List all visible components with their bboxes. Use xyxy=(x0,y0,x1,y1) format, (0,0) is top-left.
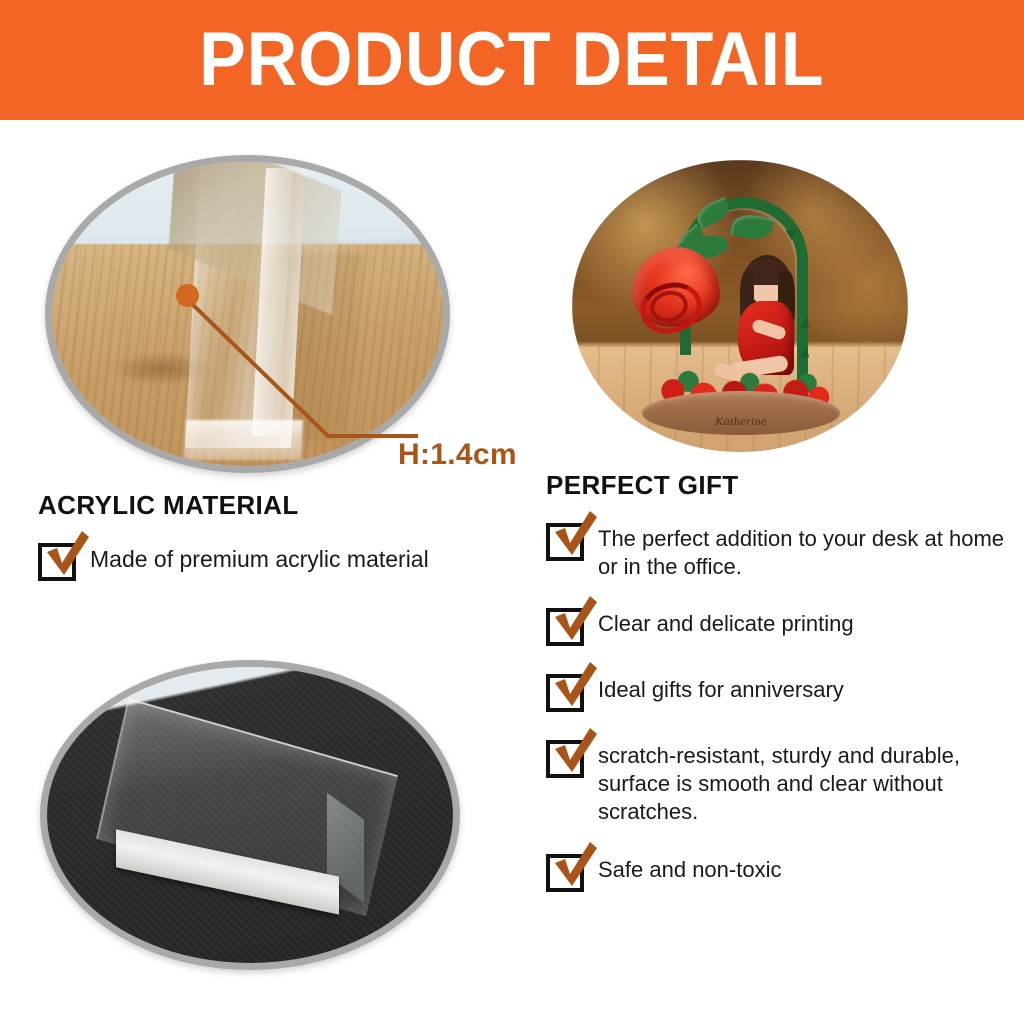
checkmark-icon xyxy=(547,510,599,562)
feature-item: The perfect addition to your desk at hom… xyxy=(546,521,1016,580)
header-banner: PRODUCT DETAIL xyxy=(0,0,1024,120)
page-title: PRODUCT DETAIL xyxy=(199,22,824,98)
feature-text: The perfect addition to your desk at hom… xyxy=(598,521,1016,580)
feature-item: Ideal gifts for anniversary xyxy=(546,672,1016,712)
checkbox-checked[interactable] xyxy=(546,674,584,712)
figurine-photo-inner: Katherine xyxy=(572,160,908,452)
acrylic-edge-photo-inner xyxy=(52,162,443,466)
checkbox-checked[interactable] xyxy=(38,543,76,581)
rose-figurine: Katherine xyxy=(624,185,856,437)
checkmark-icon xyxy=(547,727,599,779)
height-callout-label: H:1.4cm xyxy=(398,438,517,472)
acrylic-base-highlight xyxy=(184,420,303,460)
checkmark-icon xyxy=(547,595,599,647)
acrylic-edge-photo xyxy=(45,155,450,473)
feature-text: Ideal gifts for anniversary xyxy=(598,672,844,704)
checkmark-icon xyxy=(39,530,91,582)
feature-text: Safe and non-toxic xyxy=(598,852,781,884)
feature-item: Safe and non-toxic xyxy=(546,852,1016,892)
checkbox-checked[interactable] xyxy=(546,740,584,778)
callout-dot-icon xyxy=(176,284,199,307)
section-heading-acrylic: ACRYLIC MATERIAL xyxy=(38,490,538,521)
feature-item: Clear and delicate printing xyxy=(546,606,1016,646)
figurine-photo: Katherine xyxy=(572,160,908,452)
figurine-base: Katherine xyxy=(642,391,840,435)
checkbox-checked[interactable] xyxy=(546,523,584,561)
feature-text: scratch-resistant, sturdy and durable, s… xyxy=(598,738,1016,825)
checkmark-icon xyxy=(547,661,599,713)
feature-text: Made of premium acrylic material xyxy=(90,541,429,574)
engraved-name: Katherine xyxy=(642,414,840,429)
checkmark-icon xyxy=(547,841,599,893)
acrylic-block-photo xyxy=(40,660,460,970)
feature-item: Made of premium acrylic material xyxy=(38,541,538,581)
section-heading-gift: PERFECT GIFT xyxy=(546,470,1016,501)
checkbox-checked[interactable] xyxy=(546,854,584,892)
feature-item: scratch-resistant, sturdy and durable, s… xyxy=(546,738,1016,825)
acrylic-block-photo-inner xyxy=(47,667,453,963)
feature-text: Clear and delicate printing xyxy=(598,606,854,638)
acrylic-material-section: ACRYLIC MATERIAL Made of premium acrylic… xyxy=(38,490,538,581)
checkbox-checked[interactable] xyxy=(546,608,584,646)
perfect-gift-section: PERFECT GIFT The perfect addition to you… xyxy=(546,470,1016,892)
